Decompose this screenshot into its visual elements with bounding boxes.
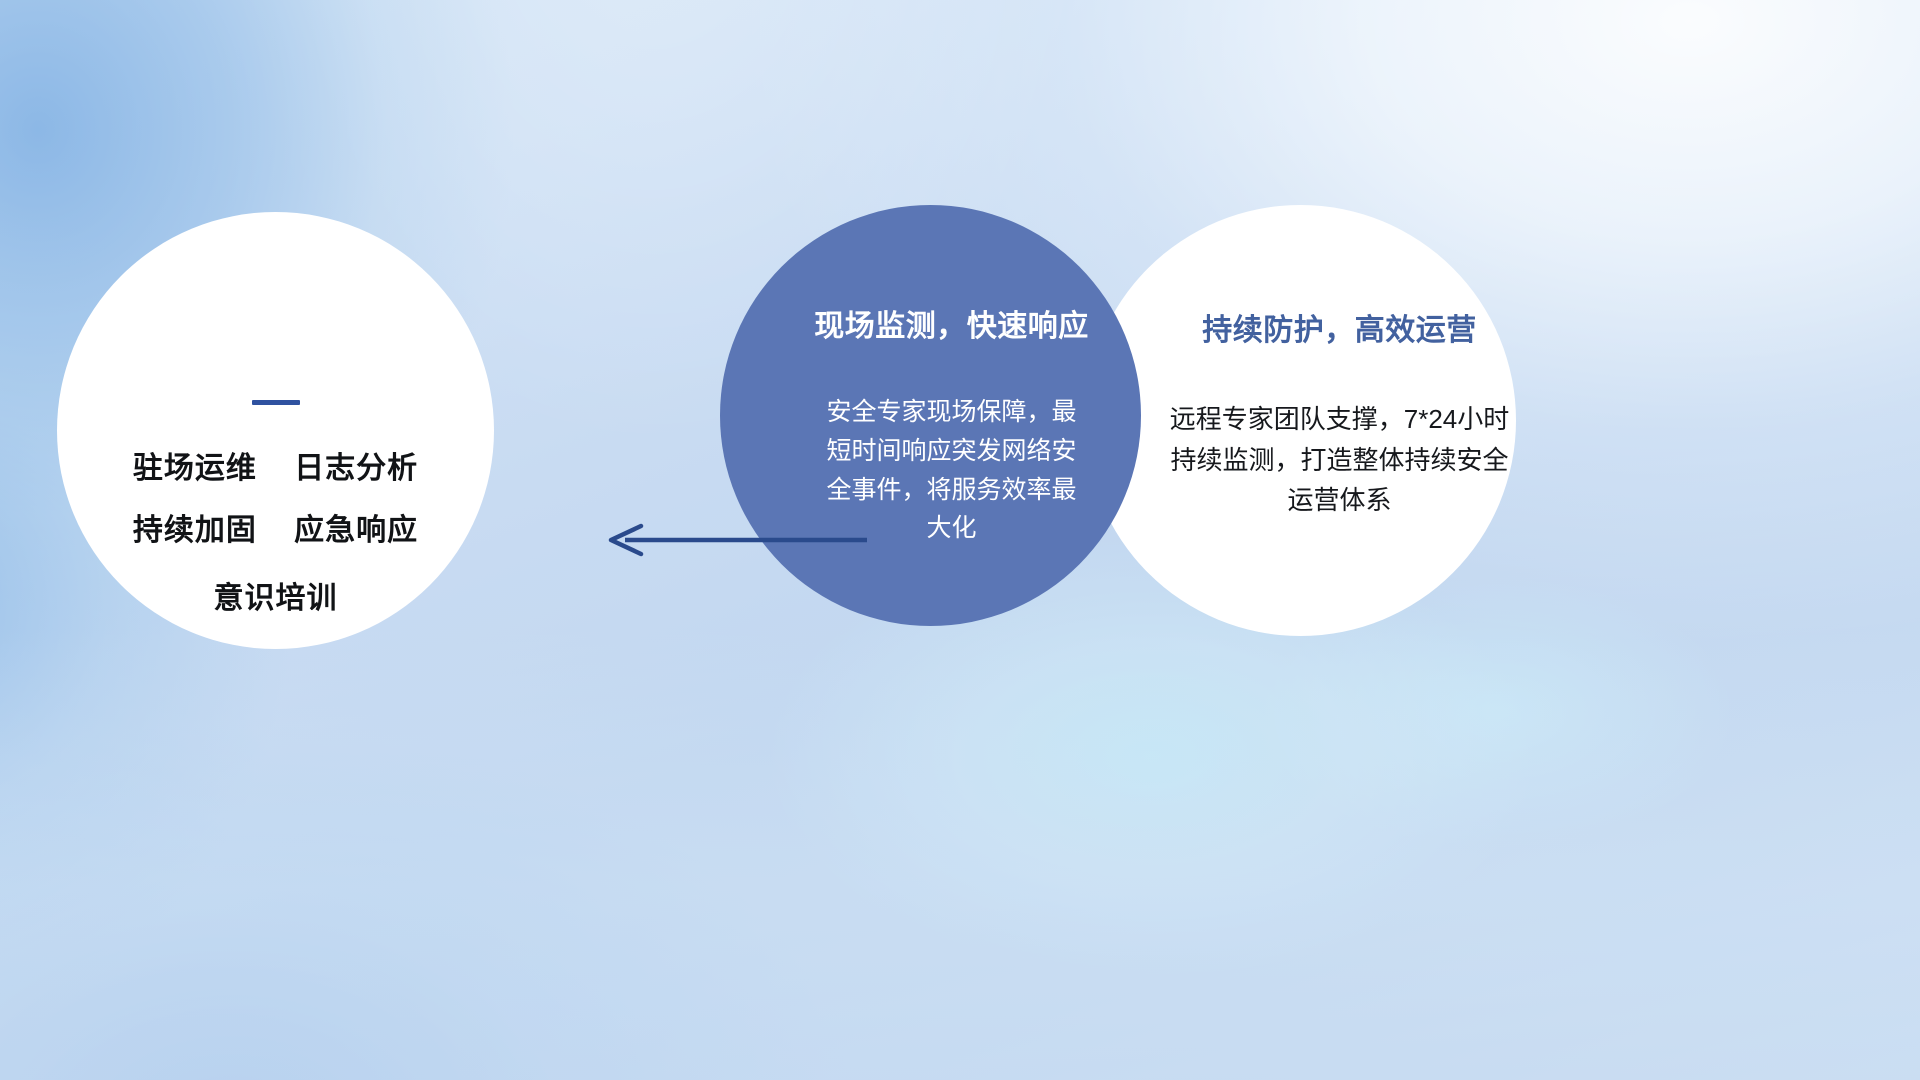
- onsite-monitoring-title: 现场监测，快速响应: [814, 301, 1089, 345]
- continuous-protection-body: 远程专家团队支撑，7*24小时持续监测，打造整体持续安全运营体系: [1165, 399, 1515, 521]
- capability-line-3: 意识培训: [214, 584, 338, 614]
- service-capabilities-circle: 驻场运维 日志分析 持续加固 应急响应 意识培训: [57, 212, 494, 649]
- onsite-monitoring-body: 安全专家现场保障，最短时间响应突发网络安全事件，将服务效率最大化: [818, 393, 1086, 548]
- capability-line-1: 驻场运维 日志分析: [133, 454, 418, 484]
- continuous-protection-title: 持续防护，高效运营: [1202, 305, 1477, 349]
- continuous-protection-circle: 持续防护，高效运营 远程专家团队支撑，7*24小时持续监测，打造整体持续安全运营…: [1085, 205, 1516, 636]
- slide-canvas: 驻场运维 日志分析 持续加固 应急响应 意识培训 现场监测，快速响应 安全专家现…: [0, 0, 1920, 1080]
- horizontal-dash-icon: [252, 400, 300, 405]
- capability-line-2: 持续加固 应急响应: [133, 516, 418, 546]
- onsite-monitoring-circle: 现场监测，快速响应 安全专家现场保障，最短时间响应突发网络安全事件，将服务效率最…: [720, 205, 1141, 626]
